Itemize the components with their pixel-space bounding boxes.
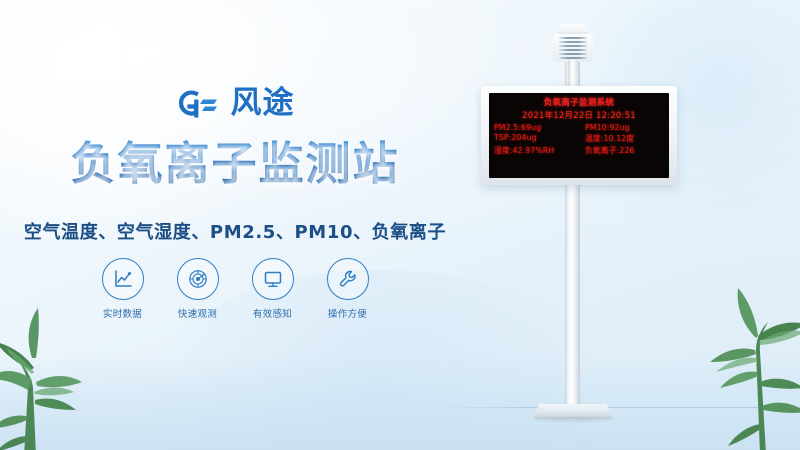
reading-humidity: 湿度:42.97%RH bbox=[494, 145, 577, 156]
led-datetime: 2021年12月22日 12:20:51 bbox=[489, 109, 669, 121]
led-screen: 负氧离子监测系统 2021年12月22日 12:20:51 PM2.5:69ug… bbox=[489, 93, 669, 178]
base-shadow bbox=[524, 416, 622, 423]
shield-stem bbox=[568, 60, 578, 88]
reading-pm25: PM2.5:69ug bbox=[494, 123, 577, 132]
radiation-shield-sensor bbox=[549, 24, 597, 70]
reading-negative-oxygen-ion: 负氧离子:226 bbox=[581, 145, 664, 156]
product-banner: 风途 负氧离子监测站 空气温度、空气湿度、PM2.5、PM10、负氧离子 实时数… bbox=[0, 0, 800, 450]
shield-louvers bbox=[553, 34, 593, 62]
reading-temperature: 温度:10.12度 bbox=[581, 133, 664, 144]
led-readings-grid: PM2.5:69ug PM10:92ug TSP:204ug 温度:10.12度… bbox=[489, 123, 669, 156]
led-display-housing: 负氧离子监测系统 2021年12月22日 12:20:51 PM2.5:69ug… bbox=[481, 86, 677, 185]
monitoring-station: 负氧离子监测系统 2021年12月22日 12:20:51 PM2.5:69ug… bbox=[0, 0, 800, 450]
reading-pm10: PM10:92ug bbox=[581, 123, 664, 132]
reading-tsp: TSP:204ug bbox=[494, 133, 577, 144]
led-screen-title: 负氧离子监测系统 bbox=[489, 96, 669, 108]
